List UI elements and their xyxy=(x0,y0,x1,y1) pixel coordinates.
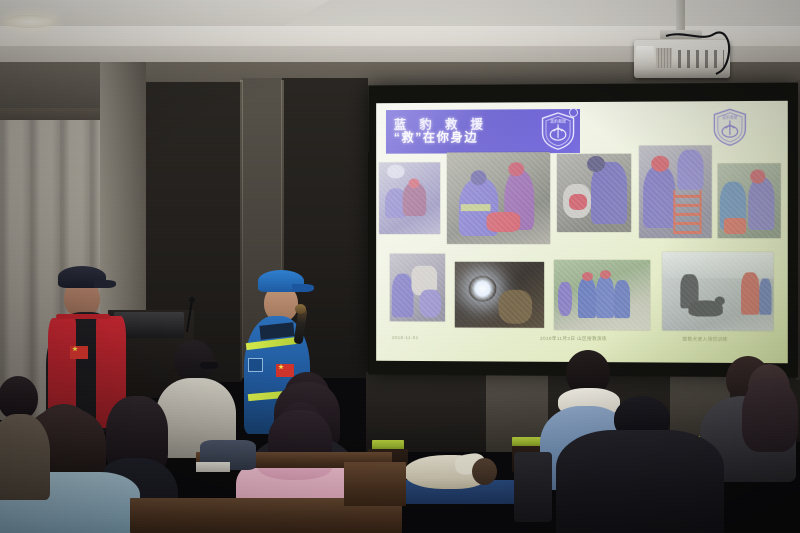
audience-hair xyxy=(742,378,798,452)
wall-panel-seam-a xyxy=(240,80,243,380)
svg-text:蓝豹救援: 蓝豹救援 xyxy=(550,118,566,123)
audience-torso xyxy=(0,414,50,500)
ceiling-mounted-projector xyxy=(634,34,730,80)
ceiling-downlight-left-icon xyxy=(4,15,56,28)
slide-caption-right: 搜救犬进入场馆训练 xyxy=(682,337,727,343)
chair-back xyxy=(514,452,552,522)
slide-photo-bandaging xyxy=(557,154,631,232)
slide-title-band: 蓝 豹 救 援 “救”在你身边 蓝豹救援 xyxy=(386,109,580,154)
svg-text:蓝豹救援: 蓝豹救援 xyxy=(722,115,737,120)
manikin-head xyxy=(472,458,497,485)
audience-member-far-left xyxy=(0,376,50,496)
audience-glasses-icon xyxy=(200,362,218,369)
presenter-red-vest-shoulder-trim xyxy=(56,314,110,319)
presenter-red-vest-flag-patch-icon: ★ xyxy=(70,346,88,359)
podium-microphone-icon xyxy=(189,297,195,303)
projector-cable-icon xyxy=(662,32,732,76)
slide-photo-search-dog xyxy=(662,252,773,331)
projection-screen-surface: 蓝 豹 救 援 “救”在你身边 蓝豹救援 xyxy=(376,101,788,364)
presenter-red-vest-cap-brim xyxy=(94,280,116,288)
microphone-grille-icon xyxy=(295,304,306,314)
slide-photo-mountain-carry xyxy=(390,254,445,322)
brand-shield-badge-icon: 蓝豹救援 xyxy=(540,112,576,150)
slide-photo-stretcher-march xyxy=(554,260,650,330)
audience-torso xyxy=(556,430,724,533)
slide-photo-team-briefing xyxy=(718,163,781,238)
audience-member-black-puffer xyxy=(556,396,724,533)
audience-head xyxy=(174,340,214,382)
projection-screen: 蓝 豹 救 援 “救”在你身边 蓝豹救援 xyxy=(368,83,798,378)
slide-caption-date: 2018-11-01 xyxy=(392,335,419,340)
slide-photo-rope-ladder xyxy=(639,145,712,238)
slide-title-sub: “救”在你身边 xyxy=(394,131,488,144)
lecture-hall-photo: 蓝 豹 救 援 “救”在你身边 蓝豹救援 xyxy=(0,0,800,533)
desk-row-middle-side xyxy=(344,462,406,506)
slide-caption-center: 2018年11月3日 山区搜救演练 xyxy=(540,336,607,342)
presenter-blue-uniform-cap-brim xyxy=(292,284,314,292)
slide-photo-first-aid-roadside xyxy=(379,162,440,234)
projector-lens xyxy=(636,46,654,70)
notebook-on-desk xyxy=(196,462,230,472)
audience-member-long-hair-right xyxy=(740,364,800,474)
band-registered-mark-icon xyxy=(569,108,578,117)
slide-corner-shield-icon: 蓝豹救援 xyxy=(713,107,747,147)
presenter-blue-uniform-chest-badge xyxy=(248,358,263,372)
slide-photo-night-search xyxy=(455,262,544,328)
slide-photo-field-treatment xyxy=(447,152,550,244)
